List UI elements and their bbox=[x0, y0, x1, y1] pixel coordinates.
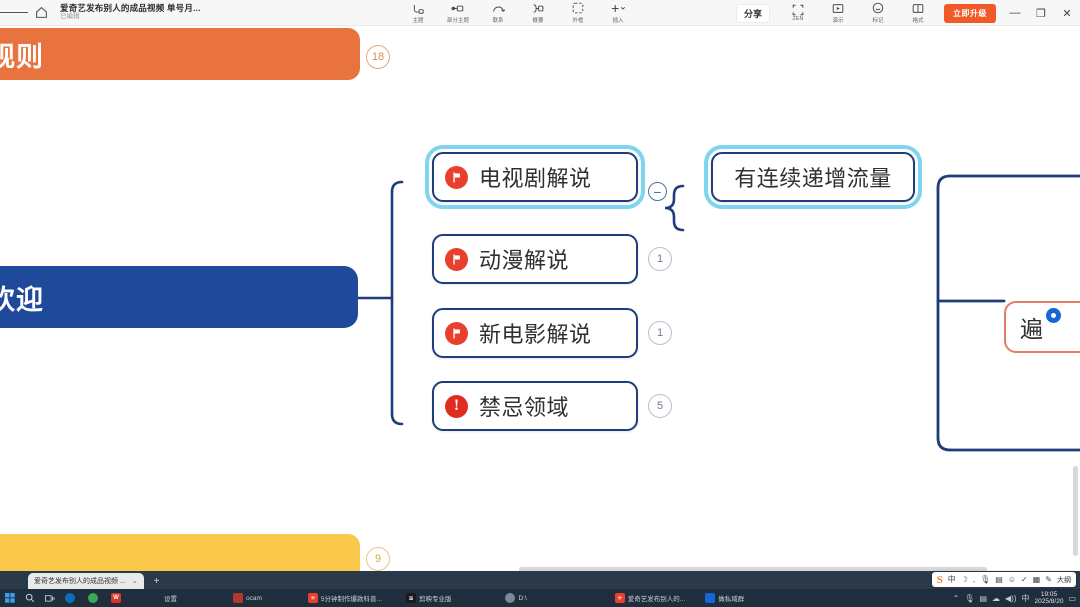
mindmap-node-anime-badge[interactable]: 1 bbox=[648, 247, 672, 271]
grid-icon[interactable]: ▦ bbox=[1033, 575, 1041, 584]
sogou-icon[interactable]: S bbox=[937, 574, 943, 586]
taskbar-item-disk-label: D:\ bbox=[518, 595, 526, 602]
sibling-topic-label: 部分主题 bbox=[447, 15, 469, 23]
mindmap-node-tv-drama[interactable]: 电视剧解说 bbox=[432, 152, 638, 202]
mindmap-node-new-movie-badge[interactable]: 1 bbox=[648, 321, 672, 345]
boundary-button[interactable]: 外框 bbox=[558, 0, 598, 26]
subtopic-icon bbox=[412, 3, 425, 14]
outline-mode-label[interactable]: 大纲 bbox=[1057, 575, 1071, 585]
comma-icon[interactable]: , bbox=[973, 575, 975, 584]
relation-label: 联系 bbox=[492, 15, 503, 23]
wps-icon: W bbox=[111, 593, 121, 603]
insert-button[interactable]: 插入 bbox=[598, 0, 638, 26]
canvas-vertical-scrollbar[interactable] bbox=[1073, 466, 1078, 556]
taskbar-clock[interactable]: 19:05 2025/8/20 bbox=[1035, 591, 1064, 605]
taskbar-item-chrome[interactable] bbox=[83, 589, 106, 607]
browser-tab[interactable]: 爱奇艺发布别人的成品视频 ... ⌄ bbox=[28, 573, 144, 589]
task-view-icon bbox=[45, 593, 55, 603]
mindmap-node-forbidden[interactable]: ! 禁忌领域 bbox=[432, 381, 638, 431]
titlebar-toolbar: 主题 部分主题 联系 概要 bbox=[398, 0, 638, 26]
document-title-block[interactable]: 爱奇艺发布别人的成品视频 单号月... 已编辑 bbox=[60, 4, 201, 21]
taskbar-item-jianying-label: 剪映专业版 bbox=[419, 593, 452, 603]
taskbar-item-ppt-label: 做私域群 bbox=[718, 593, 744, 603]
present-button[interactable]: 演示 bbox=[818, 0, 858, 26]
present-label: 演示 bbox=[832, 15, 843, 23]
taskbar-item-disk[interactable]: D:\ bbox=[500, 589, 531, 607]
new-tab-button[interactable]: + bbox=[154, 576, 160, 587]
mindmap-node-forbidden-badge[interactable]: 5 bbox=[648, 394, 672, 418]
clock-time: 19:05 bbox=[1041, 591, 1057, 598]
person-icon[interactable]: ☺ bbox=[1008, 575, 1016, 584]
summary-label: 概要 bbox=[532, 15, 543, 23]
mindmap-node-tv-drama-label: 电视剧解说 bbox=[479, 161, 592, 193]
subtopic-button[interactable]: 主题 bbox=[398, 0, 438, 26]
ppt-icon bbox=[705, 593, 715, 603]
ime-cn-icon[interactable]: 中 bbox=[1022, 593, 1030, 604]
summary-button[interactable]: 概要 bbox=[518, 0, 558, 26]
mic-icon[interactable]: 🎙 bbox=[964, 594, 974, 603]
share-button[interactable]: 分享 bbox=[736, 4, 770, 23]
mindmap-node-forbidden-label: 禁忌领域 bbox=[479, 390, 569, 422]
zen-button[interactable]: ZEN bbox=[778, 0, 818, 26]
topic-bar-yellow-badge[interactable]: 9 bbox=[366, 547, 390, 571]
topic-bar-orange-badge[interactable]: 18 bbox=[366, 45, 390, 69]
taskbar-item-wps[interactable]: W bbox=[106, 589, 129, 607]
summary-icon bbox=[531, 3, 545, 14]
home-icon[interactable] bbox=[28, 0, 54, 26]
pen-icon[interactable]: ✎ bbox=[1045, 575, 1052, 584]
titlebar-right: 分享 ZEN 演示 标记 bbox=[736, 0, 1080, 26]
mindmap-node-anime-label: 动漫解说 bbox=[479, 243, 569, 275]
cursor-marker-icon bbox=[1046, 308, 1061, 323]
mindmap-node-traffic-label: 有连续递增流量 bbox=[734, 161, 892, 193]
moon-icon[interactable]: ☽ bbox=[961, 575, 968, 584]
ime-chinese-mode-icon[interactable]: 中 bbox=[948, 574, 956, 585]
topic-bar-orange-label: 和收益等级规则 bbox=[0, 35, 44, 74]
zen-icon bbox=[792, 4, 804, 15]
format-button[interactable]: 格式 bbox=[898, 0, 938, 26]
taskbar-item-jianying[interactable]: ≋ 剪映专业版 bbox=[401, 589, 457, 607]
search-button[interactable] bbox=[20, 589, 40, 607]
restore-button[interactable]: ❐ bbox=[1028, 0, 1054, 26]
collapse-toggle-button[interactable]: − bbox=[648, 182, 667, 201]
mindmap-node-partial-label: 遍 bbox=[1020, 310, 1043, 344]
format-label: 格式 bbox=[912, 15, 923, 23]
taskbar-item-mindmap-label: 爱奇艺发布别人的... bbox=[628, 593, 685, 603]
insert-plus-icon bbox=[610, 3, 626, 14]
mark-button[interactable]: 标记 bbox=[858, 0, 898, 26]
sibling-topic-icon bbox=[451, 3, 466, 14]
taskbar-item-video-label: 5分钟制作爆款科普... bbox=[321, 593, 382, 603]
jianying-icon: ≋ bbox=[406, 593, 416, 603]
clock-date: 2025/8/20 bbox=[1035, 598, 1064, 605]
chevron-down-icon[interactable]: ⌄ bbox=[132, 577, 138, 585]
network-icon[interactable]: ▤ bbox=[979, 594, 987, 603]
titlebar-left: 爱奇艺发布别人的成品视频 单号月... 已编辑 bbox=[0, 0, 201, 26]
cloud-icon[interactable]: ☁ bbox=[992, 594, 1000, 603]
mark-icon bbox=[872, 3, 884, 14]
red-flag-icon bbox=[445, 248, 468, 271]
up-chevron-icon[interactable]: ⌃ bbox=[953, 594, 960, 603]
topic-bar-orange[interactable]: 和收益等级规则 bbox=[0, 28, 360, 80]
system-tray: ⌃ 🎙 ▤ ☁ ◀)) 中 19:05 2025/8/20 ▭ bbox=[953, 589, 1076, 607]
mic-icon[interactable]: 🎙 bbox=[980, 575, 990, 584]
windows-start-icon bbox=[5, 593, 15, 603]
v-icon[interactable]: ✓ bbox=[1021, 575, 1028, 584]
document-status: 已编辑 bbox=[60, 14, 201, 21]
red-exclamation-icon: ! bbox=[445, 395, 468, 418]
relation-icon bbox=[492, 3, 505, 14]
mindmap-node-new-movie-label: 新电影解说 bbox=[479, 317, 592, 349]
mindmap-node-new-movie[interactable]: 新电影解说 bbox=[432, 308, 638, 358]
notification-icon[interactable]: ▭ bbox=[1068, 594, 1076, 603]
browser-tabstrip: 爱奇艺发布别人的成品视频 ... ⌄ + bbox=[0, 571, 1080, 589]
hamburger-icon[interactable] bbox=[0, 0, 28, 26]
boundary-label: 外框 bbox=[572, 15, 583, 23]
zen-label: ZEN bbox=[792, 16, 803, 22]
format-icon bbox=[912, 3, 924, 14]
taskbar-item-ppt[interactable]: 做私域群 bbox=[700, 589, 749, 607]
keyboard-icon[interactable]: ▤ bbox=[995, 575, 1003, 584]
sibling-topic-button[interactable]: 部分主题 bbox=[438, 0, 478, 26]
windows-taskbar: W 设置 ocam ✳ 5分钟制作爆款科普... ≋ 剪映专业版 D:\ ✳ 爱… bbox=[0, 589, 1080, 607]
insert-label: 插入 bbox=[612, 15, 623, 23]
subtopic-label: 主题 bbox=[412, 15, 423, 23]
minimize-button[interactable]: — bbox=[1002, 0, 1028, 26]
volume-icon[interactable]: ◀)) bbox=[1005, 594, 1016, 603]
taskbar-item-settings[interactable]: 设置 bbox=[159, 589, 182, 607]
taskbar-item-mindmap[interactable]: ✳ 爱奇艺发布别人的... bbox=[610, 589, 690, 607]
taskbar-item-video[interactable]: ✳ 5分钟制作爆款科普... bbox=[303, 589, 387, 607]
present-icon bbox=[832, 3, 844, 14]
close-button[interactable]: ✕ bbox=[1054, 0, 1080, 26]
taskbar-item-ocam-label: ocam bbox=[246, 595, 262, 602]
task-view-button[interactable] bbox=[40, 589, 60, 607]
topic-bar-blue[interactable]: 的内容更受欢迎 bbox=[0, 266, 358, 328]
disk-icon bbox=[505, 593, 515, 603]
document-title: 爱奇艺发布别人的成品视频 单号月... bbox=[60, 4, 201, 13]
upgrade-button[interactable]: 立即升级 bbox=[944, 4, 996, 23]
taskbar-item-edge[interactable] bbox=[60, 589, 83, 607]
video-icon: ✳ bbox=[308, 593, 318, 603]
mark-label: 标记 bbox=[872, 15, 883, 23]
edge-icon bbox=[65, 593, 75, 603]
search-icon bbox=[25, 593, 35, 603]
topic-bar-blue-label: 的内容更受欢迎 bbox=[0, 278, 44, 317]
browser-tab-title: 爱奇艺发布别人的成品视频 ... bbox=[34, 576, 126, 586]
mindmap-node-partial[interactable]: 遍 bbox=[1004, 301, 1080, 353]
mindmap-node-traffic[interactable]: 有连续递增流量 bbox=[711, 152, 915, 202]
start-button[interactable] bbox=[0, 589, 20, 607]
red-flag-icon bbox=[445, 166, 468, 189]
chrome-icon bbox=[88, 593, 98, 603]
mindmap-node-anime[interactable]: 动漫解说 bbox=[432, 234, 638, 284]
relation-button[interactable]: 联系 bbox=[478, 0, 518, 26]
taskbar-item-ocam[interactable]: ocam bbox=[228, 589, 267, 607]
app-titlebar: 爱奇艺发布别人的成品视频 单号月... 已编辑 主题 部分主题 bbox=[0, 0, 1080, 26]
ime-toolbar: S 中 ☽ , 🎙 ▤ ☺ ✓ ▦ ✎ 大纲 bbox=[932, 572, 1076, 587]
mindmap-canvas[interactable]: 和收益等级规则 18 的内容更受欢迎 些平台获取 9 电视剧解说 − 动漫解说 … bbox=[0, 26, 1080, 581]
boundary-icon bbox=[572, 3, 584, 14]
taskbar-item-settings-label: 设置 bbox=[164, 593, 177, 603]
ocam-icon bbox=[233, 593, 243, 603]
mindmap-icon: ✳ bbox=[615, 593, 625, 603]
red-flag-icon bbox=[445, 322, 468, 345]
